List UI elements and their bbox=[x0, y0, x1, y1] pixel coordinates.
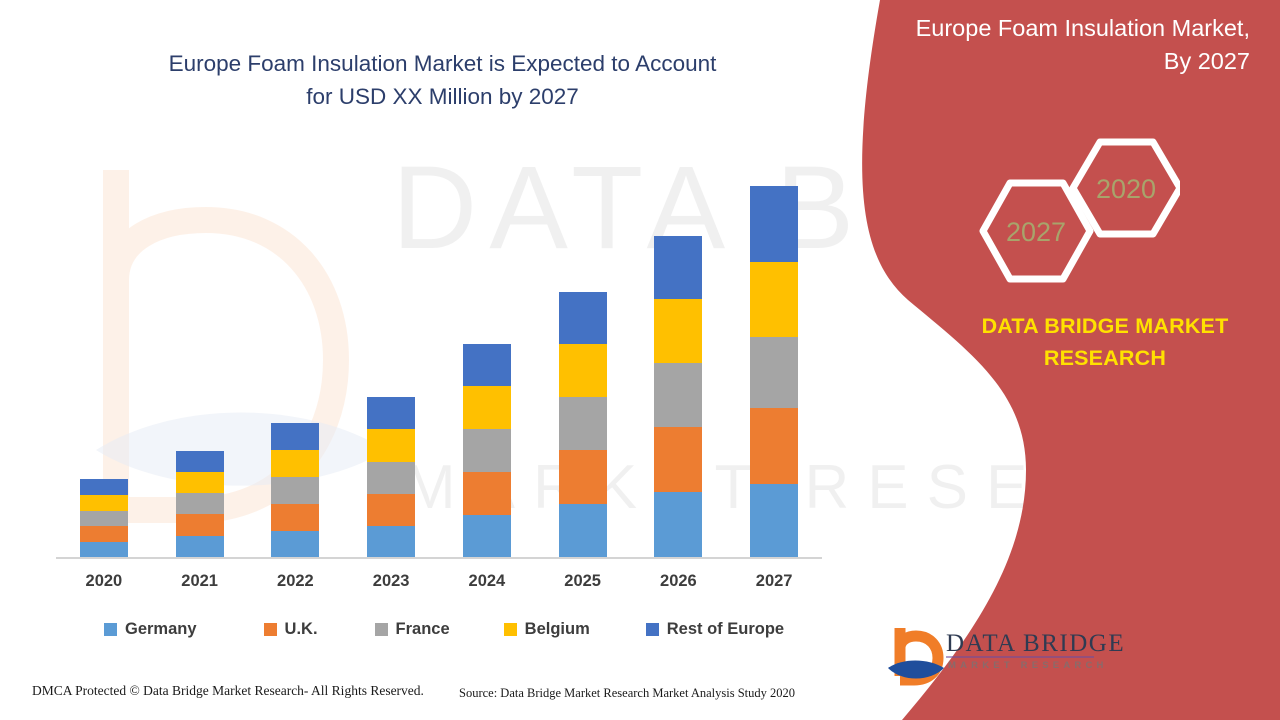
bar-segment-2021-france[interactable] bbox=[176, 493, 224, 514]
bar-segment-2022-u-k[interactable] bbox=[271, 504, 319, 531]
x-axis-tick-labels: 20202021202220232024202520262027 bbox=[56, 572, 822, 598]
legend-swatch-icon bbox=[504, 623, 517, 636]
hexagon-badge-2020: 2020 bbox=[1073, 142, 1180, 234]
hexagon-label-2027: 2027 bbox=[1006, 217, 1066, 247]
page-title-line1: Europe Foam Insulation Market is Expecte… bbox=[70, 48, 815, 81]
bar-segment-2023-rest-of-europe[interactable] bbox=[367, 397, 415, 429]
legend-swatch-icon bbox=[375, 623, 388, 636]
company-logo: DATA BRIDGE MARKET RESEARCH bbox=[888, 622, 1103, 692]
bar-segment-2026-belgium[interactable] bbox=[654, 299, 702, 363]
bar-segment-2023-belgium[interactable] bbox=[367, 429, 415, 462]
legend-item-u-k[interactable]: U.K. bbox=[264, 620, 318, 639]
bar-segment-2020-u-k[interactable] bbox=[80, 526, 128, 542]
logo-mark-icon bbox=[888, 624, 946, 692]
panel-title: Europe Foam Insulation Market, By 2027 bbox=[880, 12, 1250, 79]
legend-label: Germany bbox=[125, 620, 197, 639]
bar-2020[interactable] bbox=[80, 479, 128, 558]
legend-item-france[interactable]: France bbox=[375, 620, 450, 639]
legend-label: Rest of Europe bbox=[667, 620, 784, 639]
hexagon-badges: 2020 2027 bbox=[975, 128, 1180, 293]
panel-title-line2: By 2027 bbox=[880, 45, 1250, 78]
legend-item-rest-of-europe[interactable]: Rest of Europe bbox=[646, 620, 784, 639]
bar-segment-2024-u-k[interactable] bbox=[463, 472, 511, 515]
bar-segment-2026-france[interactable] bbox=[654, 363, 702, 427]
x-axis-label-2022: 2022 bbox=[247, 572, 343, 591]
x-axis-label-2023: 2023 bbox=[343, 572, 439, 591]
bar-segment-2024-germany[interactable] bbox=[463, 515, 511, 558]
bar-segment-2024-france[interactable] bbox=[463, 429, 511, 472]
hexagon-badge-2027: 2027 bbox=[983, 183, 1090, 279]
bar-segment-2021-germany[interactable] bbox=[176, 536, 224, 558]
brand-name-line1: DATA BRIDGE MARKET bbox=[950, 310, 1260, 342]
legend-swatch-icon bbox=[264, 623, 277, 636]
bar-segment-2025-belgium[interactable] bbox=[559, 344, 607, 397]
bar-segment-2026-u-k[interactable] bbox=[654, 427, 702, 492]
x-axis-label-2024: 2024 bbox=[439, 572, 535, 591]
bar-segment-2027-rest-of-europe[interactable] bbox=[750, 186, 798, 262]
bar-segment-2020-germany[interactable] bbox=[80, 542, 128, 558]
x-axis-label-2020: 2020 bbox=[56, 572, 152, 591]
footer-copyright: DMCA Protected © Data Bridge Market Rese… bbox=[32, 683, 424, 699]
bar-segment-2026-germany[interactable] bbox=[654, 492, 702, 558]
bar-segment-2022-germany[interactable] bbox=[271, 531, 319, 558]
legend-item-germany[interactable]: Germany bbox=[104, 620, 197, 639]
legend-label: France bbox=[396, 620, 450, 639]
hexagon-label-2020: 2020 bbox=[1096, 174, 1156, 204]
bar-segment-2020-france[interactable] bbox=[80, 511, 128, 526]
bar-segment-2021-belgium[interactable] bbox=[176, 472, 224, 493]
logo-divider bbox=[946, 656, 1094, 658]
bar-segment-2024-belgium[interactable] bbox=[463, 386, 511, 429]
bar-2025[interactable] bbox=[559, 292, 607, 558]
bar-segment-2025-france[interactable] bbox=[559, 397, 607, 450]
bar-segment-2027-belgium[interactable] bbox=[750, 262, 798, 337]
x-axis-label-2026: 2026 bbox=[630, 572, 726, 591]
logo-text-main: DATA BRIDGE bbox=[946, 630, 1125, 658]
x-axis-label-2027: 2027 bbox=[726, 572, 822, 591]
infographic-canvas: DATA BRIDGE MARKET RESEARCH Europe Foam … bbox=[0, 0, 1280, 720]
bar-segment-2027-germany[interactable] bbox=[750, 484, 798, 558]
bar-segment-2023-u-k[interactable] bbox=[367, 494, 415, 526]
logo-text-sub: MARKET RESEARCH bbox=[948, 660, 1108, 671]
bar-segment-2026-rest-of-europe[interactable] bbox=[654, 236, 702, 299]
x-axis-label-2021: 2021 bbox=[152, 572, 248, 591]
bar-segment-2025-u-k[interactable] bbox=[559, 450, 607, 504]
bar-2022[interactable] bbox=[271, 423, 319, 558]
bar-segment-2020-belgium[interactable] bbox=[80, 495, 128, 511]
brand-name: DATA BRIDGE MARKET RESEARCH bbox=[950, 310, 1260, 375]
legend-label: U.K. bbox=[285, 620, 318, 639]
bar-segment-2024-rest-of-europe[interactable] bbox=[463, 344, 511, 386]
bar-2021[interactable] bbox=[176, 451, 224, 558]
bar-segment-2025-rest-of-europe[interactable] bbox=[559, 292, 607, 344]
bar-2026[interactable] bbox=[654, 236, 702, 558]
bar-segment-2023-france[interactable] bbox=[367, 462, 415, 494]
chart-plot-area bbox=[56, 160, 822, 558]
bar-segment-2025-germany[interactable] bbox=[559, 504, 607, 558]
panel-title-line1: Europe Foam Insulation Market, bbox=[880, 12, 1250, 45]
bar-segment-2022-france[interactable] bbox=[271, 477, 319, 504]
brand-name-line2: RESEARCH bbox=[950, 342, 1260, 374]
bar-segment-2021-u-k[interactable] bbox=[176, 514, 224, 536]
chart-legend: GermanyU.K.FranceBelgiumRest of Europe bbox=[104, 616, 784, 642]
bar-segment-2022-belgium[interactable] bbox=[271, 450, 319, 477]
bar-segment-2020-rest-of-europe[interactable] bbox=[80, 479, 128, 495]
bar-2027[interactable] bbox=[750, 186, 798, 558]
page-title-line2: for USD XX Million by 2027 bbox=[70, 81, 815, 114]
legend-swatch-icon bbox=[646, 623, 659, 636]
legend-swatch-icon bbox=[104, 623, 117, 636]
x-axis-label-2025: 2025 bbox=[535, 572, 631, 591]
bar-segment-2022-rest-of-europe[interactable] bbox=[271, 423, 319, 450]
bar-segment-2027-u-k[interactable] bbox=[750, 408, 798, 484]
bar-segment-2023-germany[interactable] bbox=[367, 526, 415, 558]
bar-segment-2027-france[interactable] bbox=[750, 337, 798, 408]
legend-item-belgium[interactable]: Belgium bbox=[504, 620, 590, 639]
footer-source: Source: Data Bridge Market Research Mark… bbox=[459, 686, 795, 701]
bar-2023[interactable] bbox=[367, 397, 415, 558]
x-axis-line bbox=[56, 557, 822, 559]
bar-2024[interactable] bbox=[463, 344, 511, 558]
page-title: Europe Foam Insulation Market is Expecte… bbox=[70, 48, 815, 113]
legend-label: Belgium bbox=[525, 620, 590, 639]
bar-segment-2021-rest-of-europe[interactable] bbox=[176, 451, 224, 472]
